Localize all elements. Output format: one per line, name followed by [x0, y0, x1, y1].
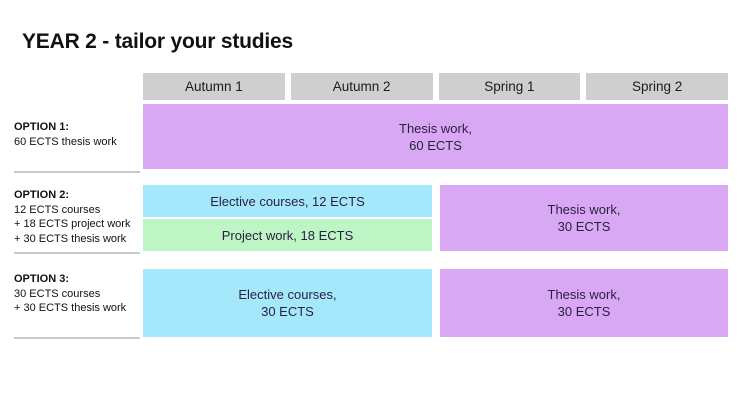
- option-2-description: 12 ECTS courses + 18 ECTS project work +…: [14, 203, 140, 247]
- option-1-heading: OPTION 1:: [14, 120, 140, 135]
- option-1-description: 60 ECTS thesis work: [14, 135, 140, 150]
- option-3-thesis-bar: Thesis work, 30 ECTS: [440, 269, 728, 337]
- option-divider-2: [14, 252, 140, 254]
- column-header-spring-1: Spring 1: [439, 73, 581, 100]
- option-divider-1: [14, 171, 140, 173]
- option-3-elective-bar: Elective courses, 30 ECTS: [143, 269, 432, 337]
- column-header-autumn-1: Autumn 1: [143, 73, 285, 100]
- option-2-elective-bar: Elective courses, 12 ECTS: [143, 185, 432, 217]
- column-header-spring-2: Spring 2: [586, 73, 728, 100]
- option-2-project-bar: Project work, 18 ECTS: [143, 219, 432, 251]
- option-2-thesis-bar: Thesis work, 30 ECTS: [440, 185, 728, 251]
- slide-canvas: YEAR 2 - tailor your studies Autumn 1 Au…: [0, 0, 740, 416]
- option-3-description: 30 ECTS courses + 30 ECTS thesis work: [14, 287, 140, 316]
- semester-header-row: Autumn 1 Autumn 2 Spring 1 Spring 2: [143, 73, 728, 100]
- option-1-label: OPTION 1: 60 ECTS thesis work: [14, 120, 140, 149]
- page-title: YEAR 2 - tailor your studies: [22, 30, 293, 54]
- option-1-thesis-bar: Thesis work, 60 ECTS: [143, 104, 728, 169]
- option-3-label: OPTION 3: 30 ECTS courses + 30 ECTS thes…: [14, 272, 140, 316]
- option-2-heading: OPTION 2:: [14, 188, 140, 203]
- column-header-autumn-2: Autumn 2: [291, 73, 433, 100]
- option-divider-3: [14, 337, 140, 339]
- option-3-heading: OPTION 3:: [14, 272, 140, 287]
- option-2-label: OPTION 2: 12 ECTS courses + 18 ECTS proj…: [14, 188, 140, 246]
